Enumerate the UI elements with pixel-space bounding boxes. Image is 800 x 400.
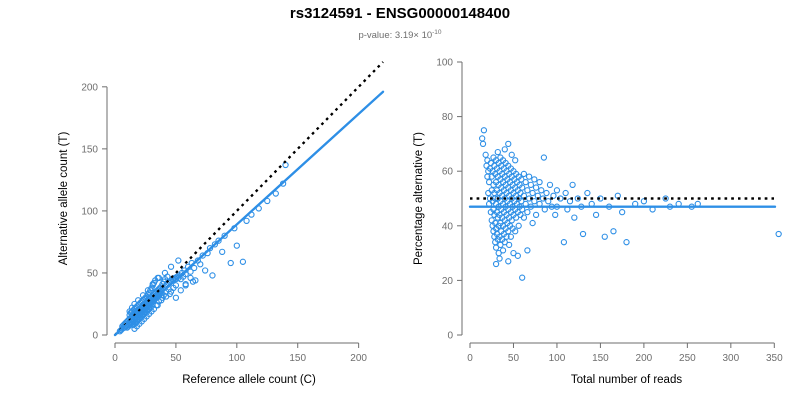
y-axis-tick-label: 100 [436,58,453,69]
x-axis-tick-label: 200 [636,353,653,364]
x-axis-tick-label: 200 [350,353,367,364]
x-axis-tick-label: 100 [228,353,245,364]
y-axis-tick-label: 40 [442,221,454,232]
y-axis-tick-label: 20 [442,276,454,287]
figure-background [0,0,800,400]
p-value-subtitle: p-value: 3.19× 10-10 [358,29,441,41]
x-axis-tick-label: 150 [289,353,306,364]
x-axis-tick-label: 350 [766,353,783,364]
x-axis-tick-label: 0 [112,353,118,364]
figure-canvas: rs3124591 - ENSG00000148400 p-value: 3.1… [0,0,800,400]
x-axis-tick-label: 300 [722,353,739,364]
x-axis-tick-label: 0 [467,353,473,364]
x-axis-tick-label: 50 [170,353,182,364]
x-axis-title: Total number of reads [571,374,682,386]
y-axis-title: Percentage alternative (T) [413,132,425,265]
x-axis-title: Reference allele count (C) [182,374,316,386]
y-axis-tick-label: 0 [447,331,453,342]
y-axis-tick-label: 50 [87,268,99,279]
p-value-exponent: -10 [432,29,442,36]
p-value-prefix: p-value: 3.19× 10 [358,30,432,41]
y-axis-tick-label: 0 [92,331,98,342]
page-title: rs3124591 - ENSG00000148400 [290,5,510,22]
y-axis-tick-label: 150 [81,144,98,155]
x-axis-tick-label: 100 [549,353,566,364]
x-axis-tick-label: 250 [679,353,696,364]
y-axis-tick-label: 60 [442,167,454,178]
x-axis-tick-label: 50 [508,353,520,364]
y-axis-title: Alternative allele count (T) [58,132,70,266]
y-axis-tick-label: 80 [442,112,454,123]
y-axis-tick-label: 200 [81,82,98,93]
x-axis-tick-label: 150 [592,353,609,364]
y-axis-tick-label: 100 [81,206,98,217]
